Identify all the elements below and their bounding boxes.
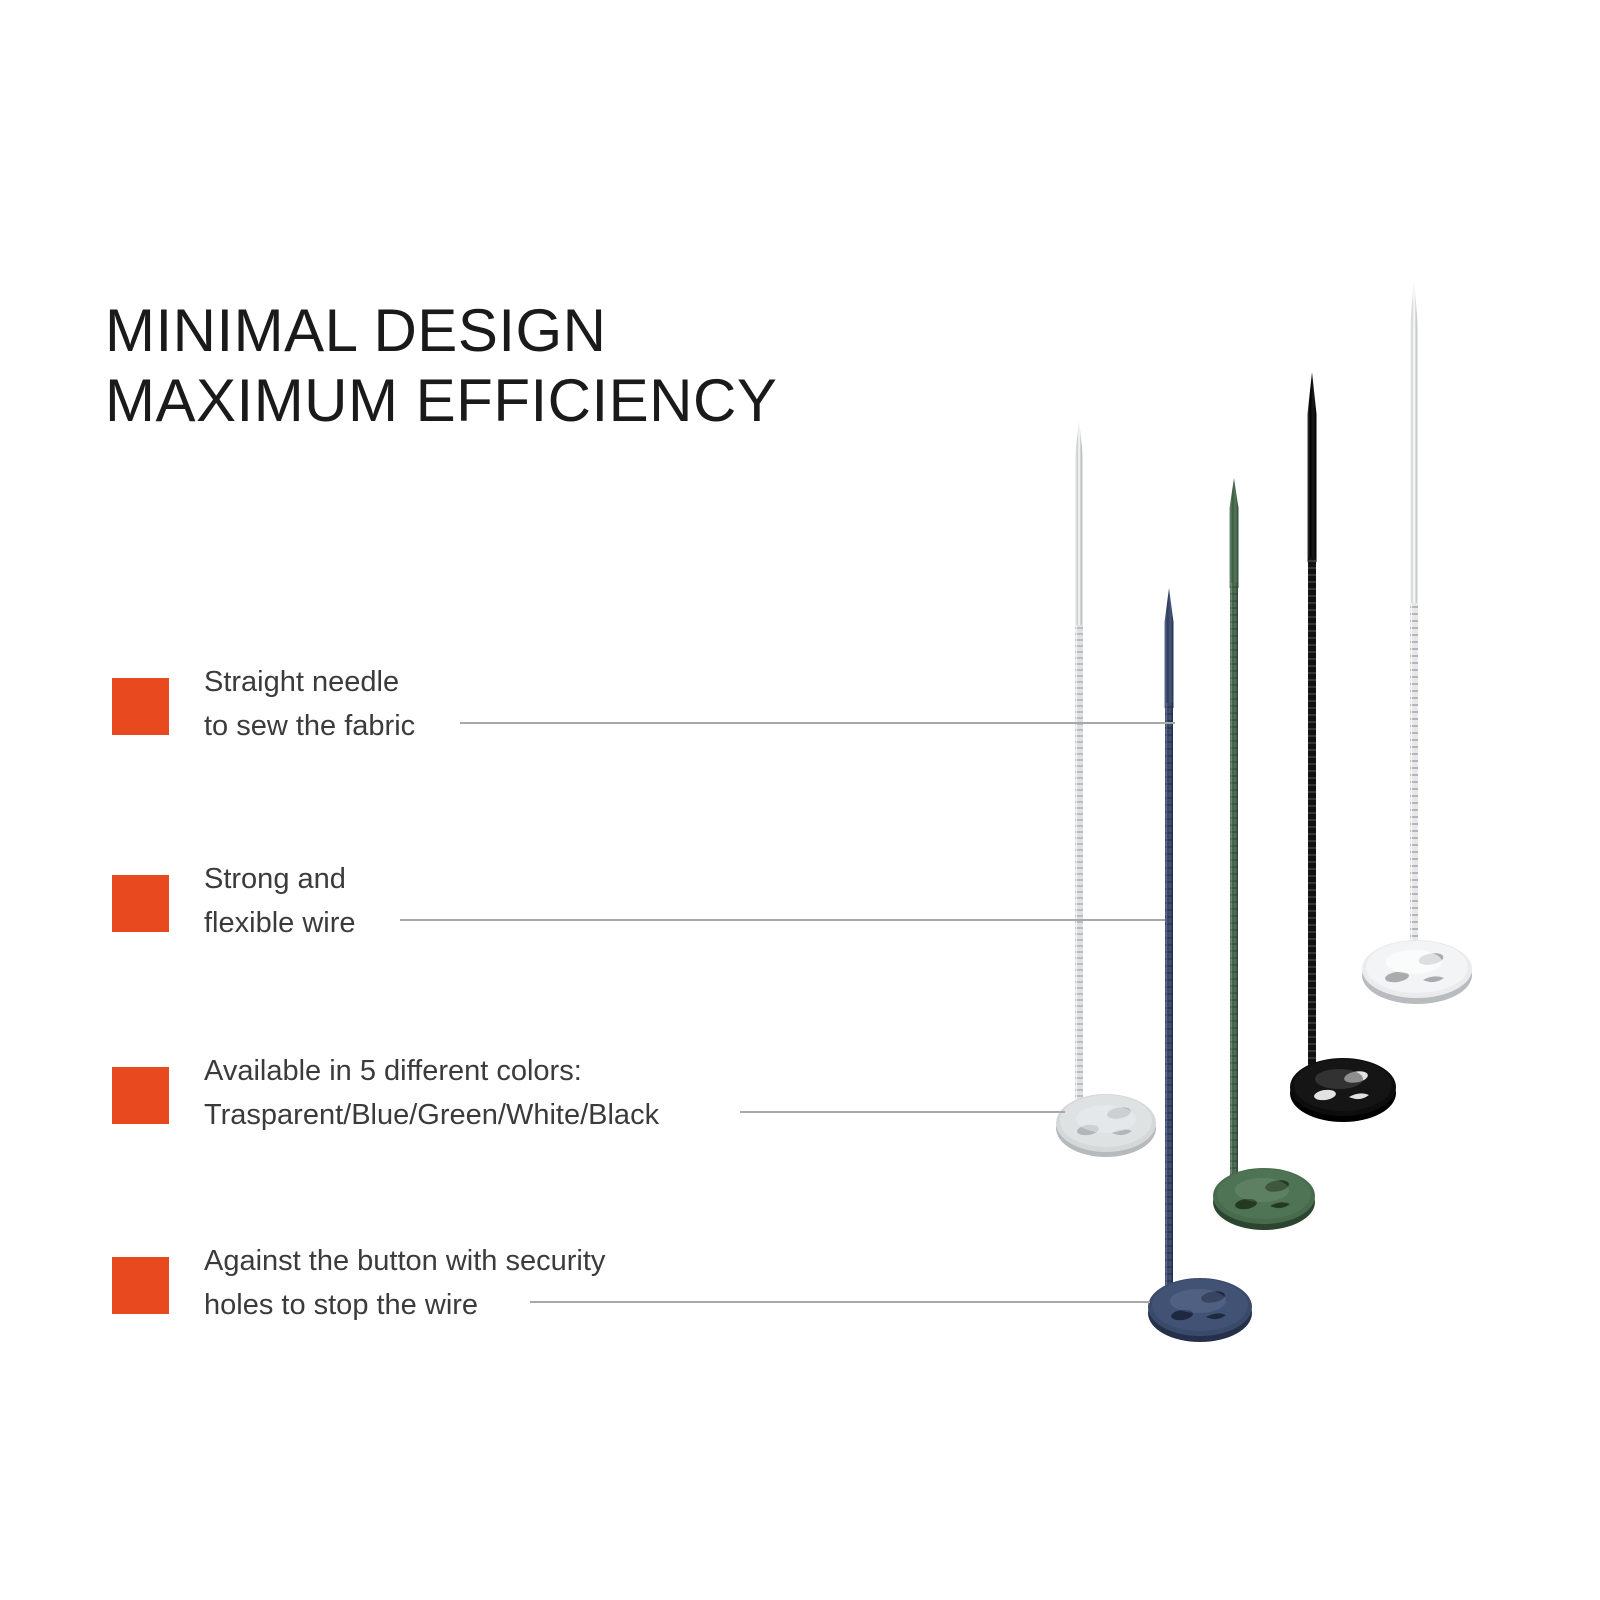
wire-shaft-white xyxy=(1408,603,1421,953)
needle-tip-white xyxy=(1407,278,1422,608)
needle-tip-transparent xyxy=(1072,420,1086,630)
needle-tip-black xyxy=(1304,372,1320,562)
pin-green xyxy=(1218,478,1250,1198)
feature-4-line-1: Against the button with security xyxy=(204,1239,605,1283)
feature-item-3: Available in 5 different colors: Traspar… xyxy=(112,1049,812,1159)
needle-tip-blue xyxy=(1161,588,1177,708)
page-title: MINIMAL DESIGN MAXIMUM EFFICIENCY xyxy=(105,296,1005,436)
feature-3-line-1: Available in 5 different colors: xyxy=(204,1049,659,1093)
feature-4-line-2: holes to stop the wire xyxy=(204,1283,605,1327)
title-line-2: MAXIMUM EFFICIENCY xyxy=(105,366,1005,436)
security-button-transparent xyxy=(1048,1085,1164,1163)
needle-tip-green xyxy=(1226,478,1242,588)
feature-1-line-1: Straight needle xyxy=(204,660,415,704)
feature-item-1: Straight needle to sew the fabric xyxy=(112,660,812,770)
wire-shaft-blue xyxy=(1163,703,1176,1323)
infographic-page: MINIMAL DESIGN MAXIMUM EFFICIENCY xyxy=(0,0,1600,1600)
feature-item-4: Against the button with security holes t… xyxy=(112,1239,812,1349)
feature-2-line-2: flexible wire xyxy=(204,901,356,945)
bullet-swatch-4 xyxy=(112,1257,169,1314)
bullet-swatch-1 xyxy=(112,678,169,735)
security-button-green xyxy=(1205,1158,1323,1236)
feature-1-line-2: to sew the fabric xyxy=(204,704,415,748)
pin-white xyxy=(1398,278,1430,958)
pin-blue xyxy=(1153,588,1185,1308)
security-button-blue xyxy=(1140,1268,1260,1348)
pin-black xyxy=(1296,372,1328,1072)
bullet-swatch-3 xyxy=(112,1067,169,1124)
bullet-swatch-2 xyxy=(112,875,169,932)
security-button-white xyxy=(1352,930,1482,1010)
pin-transparent xyxy=(1063,420,1095,1120)
feature-text-4: Against the button with security holes t… xyxy=(204,1239,605,1327)
wire-shaft-transparent xyxy=(1073,625,1085,1100)
wire-shaft-black xyxy=(1306,557,1319,1077)
title-line-1: MINIMAL DESIGN xyxy=(105,296,1005,366)
feature-3-line-2: Trasparent/Blue/Green/White/Black xyxy=(204,1093,659,1137)
feature-2-line-1: Strong and xyxy=(204,857,356,901)
feature-item-2: Strong and flexible wire xyxy=(112,857,812,967)
security-button-black xyxy=(1282,1048,1404,1128)
feature-text-3: Available in 5 different colors: Traspar… xyxy=(204,1049,659,1137)
feature-text-2: Strong and flexible wire xyxy=(204,857,356,945)
wire-shaft-green xyxy=(1228,583,1241,1203)
feature-text-1: Straight needle to sew the fabric xyxy=(204,660,415,748)
